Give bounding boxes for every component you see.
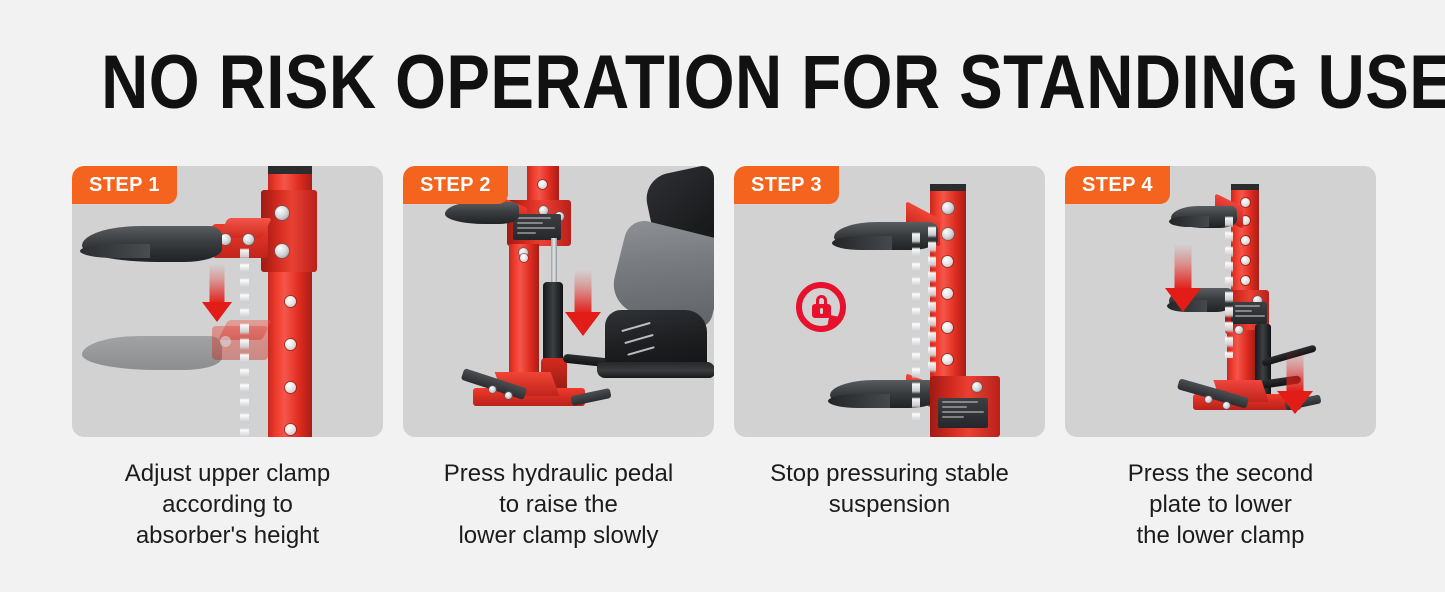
step-card-1: STEP 1 (72, 166, 383, 551)
caption-line: Stop pressuring stable (725, 458, 1055, 489)
step-card-4: STEP 4 (1065, 166, 1376, 551)
safety-chain (912, 232, 920, 422)
caption-line: Press hydraulic pedal (394, 458, 724, 489)
caption-line: Press the second (1056, 458, 1386, 489)
ghost-clamp-bolt (220, 336, 231, 347)
safety-chain (928, 226, 936, 376)
step-image-panel-3: STEP 3 (734, 166, 1045, 437)
hydraulic-ram-rod (551, 238, 557, 286)
caption-line: Adjust upper clamp (63, 458, 393, 489)
down-arrow-icon (1277, 350, 1313, 414)
down-arrow-icon (202, 264, 232, 322)
caption-line: plate to lower (1056, 489, 1386, 520)
post-cap (930, 184, 966, 191)
post-bolt (942, 202, 954, 214)
post-hole (538, 180, 547, 189)
upper-jaw-tip (832, 236, 892, 250)
post-hole (285, 296, 296, 307)
clamp-arm-bolt (243, 234, 254, 245)
post-hole (285, 382, 296, 393)
base-bolt (1223, 402, 1230, 409)
lock-bubble-icon (796, 282, 848, 338)
step-badge-4: STEP 4 (1065, 166, 1170, 204)
step-badge-1: STEP 1 (72, 166, 177, 204)
base-bolt (505, 392, 512, 399)
spec-label-plate (1231, 302, 1267, 324)
post-hole (1241, 276, 1250, 285)
post-hole (285, 424, 296, 435)
collar-bolt (275, 206, 289, 220)
step-card-3: STEP 3 (734, 166, 1045, 551)
lower-jaw-tip (828, 394, 890, 408)
post-hole (942, 354, 953, 365)
illustration-stable-suspension (734, 166, 1045, 437)
step-image-panel-4: STEP 4 (1065, 166, 1376, 437)
caption-line: the lower clamp (1056, 520, 1386, 551)
caption-line: to raise the (394, 489, 724, 520)
step-caption-3: Stop pressuring stable suspension (725, 458, 1055, 520)
caption-line: lower clamp slowly (394, 520, 724, 551)
base-bolt (489, 386, 496, 393)
lock-keyhole (820, 308, 823, 314)
illustration-lower-the-clamp (1065, 166, 1376, 437)
caption-line: absorber's height (63, 520, 393, 551)
body-bolt (972, 382, 982, 392)
post-hole (942, 256, 953, 267)
step-caption-1: Adjust upper clamp according to absorber… (63, 458, 393, 551)
step-image-panel-2: STEP 2 (403, 166, 714, 437)
illustration-press-hydraulic-pedal (403, 166, 714, 437)
post-hole (942, 322, 953, 333)
post-hole (1241, 256, 1250, 265)
down-arrow-icon (565, 270, 601, 336)
steps-row: STEP 1 (72, 166, 1378, 551)
column-bolt (1235, 326, 1243, 334)
post-hole (1241, 198, 1250, 207)
post-cap (268, 166, 312, 174)
caption-line: according to (63, 489, 393, 520)
base-bolt (1205, 396, 1212, 403)
boot-sole (597, 362, 714, 378)
ghost-clamp-jaw (82, 336, 222, 370)
safety-chain (1225, 216, 1233, 358)
upper-clamp-collar (261, 190, 317, 272)
step-image-panel-1: STEP 1 (72, 166, 383, 437)
spec-label-plate (513, 214, 561, 240)
upper-clamp-jaw (445, 202, 519, 224)
post-hole (1241, 236, 1250, 245)
step-badge-2: STEP 2 (403, 166, 508, 204)
upper-jaw-tip (1169, 216, 1209, 227)
step-caption-4: Press the second plate to lower the lowe… (1056, 458, 1386, 551)
safety-chain (240, 248, 249, 437)
caption-line: suspension (725, 489, 1055, 520)
collar-bolt (275, 244, 289, 258)
post-cap (1231, 184, 1259, 190)
step-badge-3: STEP 3 (734, 166, 839, 204)
post-hole (285, 339, 296, 350)
step-card-2: STEP 2 (403, 166, 714, 551)
down-arrow-icon (1165, 244, 1201, 312)
post-bolt (942, 228, 954, 240)
post-hole (942, 288, 953, 299)
page-title: NO RISK OPERATION FOR STANDING USE (101, 44, 1344, 122)
step-caption-2: Press hydraulic pedal to raise the lower… (394, 458, 724, 551)
upper-jaw-tip (80, 244, 150, 258)
spec-label-plate (938, 398, 988, 428)
column-hole (520, 254, 528, 262)
